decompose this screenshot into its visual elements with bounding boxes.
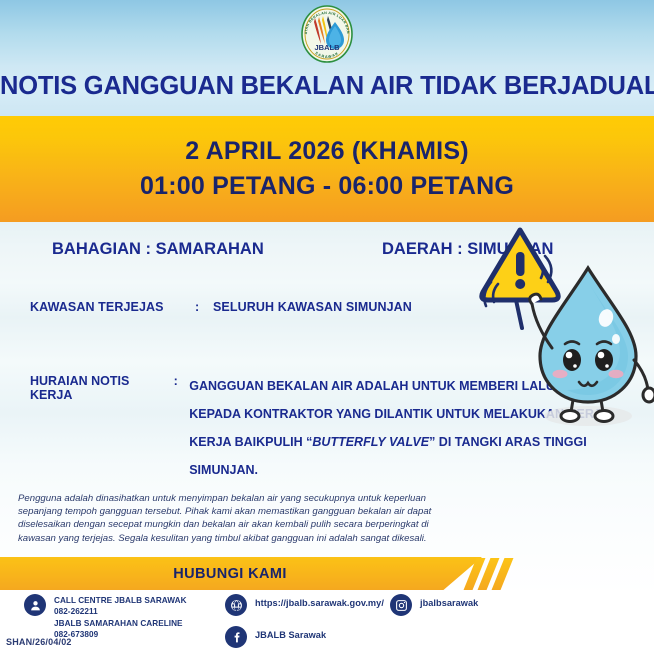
work-notice-label: HURAIAN NOTIS KERJA <box>30 372 174 484</box>
contact-call-centre-text: CALL CENTRE JBALB SARAWAK 082-262211 JBA… <box>54 594 187 641</box>
call-centre-name: CALL CENTRE JBALB SARAWAK <box>54 596 187 605</box>
reference-code: SHAN/26/04/02 <box>6 637 72 647</box>
careline-name: JBALB SAMARAHAN CARELINE <box>54 619 183 628</box>
outage-date: 2 APRIL 2026 (KHAMIS) <box>185 137 468 166</box>
globe-icon <box>225 594 247 616</box>
contact-website-text: https://jbalb.sarawak.gov.my/ <box>255 594 384 609</box>
contact-item-website[interactable]: https://jbalb.sarawak.gov.my/ <box>225 594 384 616</box>
contact-item-facebook[interactable]: JBALB Sarawak <box>225 626 326 648</box>
instagram-icon <box>390 594 412 616</box>
work-notice-line-4: SIMUNJAN. <box>189 456 614 484</box>
contact-bar-container: HUBUNGI KAMI <box>0 557 654 590</box>
poster-footer: CALL CENTRE JBALB SARAWAK 082-262211 JBA… <box>0 590 654 657</box>
person-icon <box>24 594 46 616</box>
notice-poster: JBALB JABATAN BEKALAN AIR LUAR BANDAR SA… <box>0 0 654 657</box>
affected-area-label: KAWASAN TERJEJAS <box>30 300 195 314</box>
work-notice-line-3-pre: KERJA BAIKPULIH “ <box>189 435 312 449</box>
contact-instagram-text: jbalbsarawak <box>420 594 478 609</box>
affected-area-colon: : <box>195 300 213 314</box>
jbalb-sarawak-logo-icon: JBALB JABATAN BEKALAN AIR LUAR BANDAR SA… <box>295 4 359 64</box>
outage-time: 01:00 PETANG - 06:00 PETANG <box>140 172 514 201</box>
poster-header: JBALB JABATAN BEKALAN AIR LUAR BANDAR SA… <box>0 0 654 116</box>
contact-bar-title: HUBUNGI KAMI <box>0 557 460 590</box>
contact-item-call-centre[interactable]: CALL CENTRE JBALB SARAWAK 082-262211 JBA… <box>24 594 187 641</box>
division-label: BAHAGIAN : SAMARAHAN <box>52 240 382 259</box>
water-drop-mascot-icon <box>520 256 654 438</box>
contact-item-instagram[interactable]: jbalbsarawak <box>390 594 478 616</box>
call-centre-phone: 082-262211 <box>54 607 98 616</box>
svg-text:JBALB: JBALB <box>314 43 340 52</box>
date-time-band: 2 APRIL 2026 (KHAMIS) 01:00 PETANG - 06:… <box>0 116 654 222</box>
page-title: NOTIS GANGGUAN BEKALAN AIR TIDAK BERJADU… <box>0 72 654 101</box>
contact-facebook-text: JBALB Sarawak <box>255 626 326 641</box>
disclaimer-text: Pengguna adalah dinasihatkan untuk menyi… <box>18 492 468 545</box>
work-notice-colon: : <box>174 372 190 484</box>
facebook-icon <box>225 626 247 648</box>
work-notice-emphasis: BUTTERFLY VALVE <box>312 435 429 449</box>
